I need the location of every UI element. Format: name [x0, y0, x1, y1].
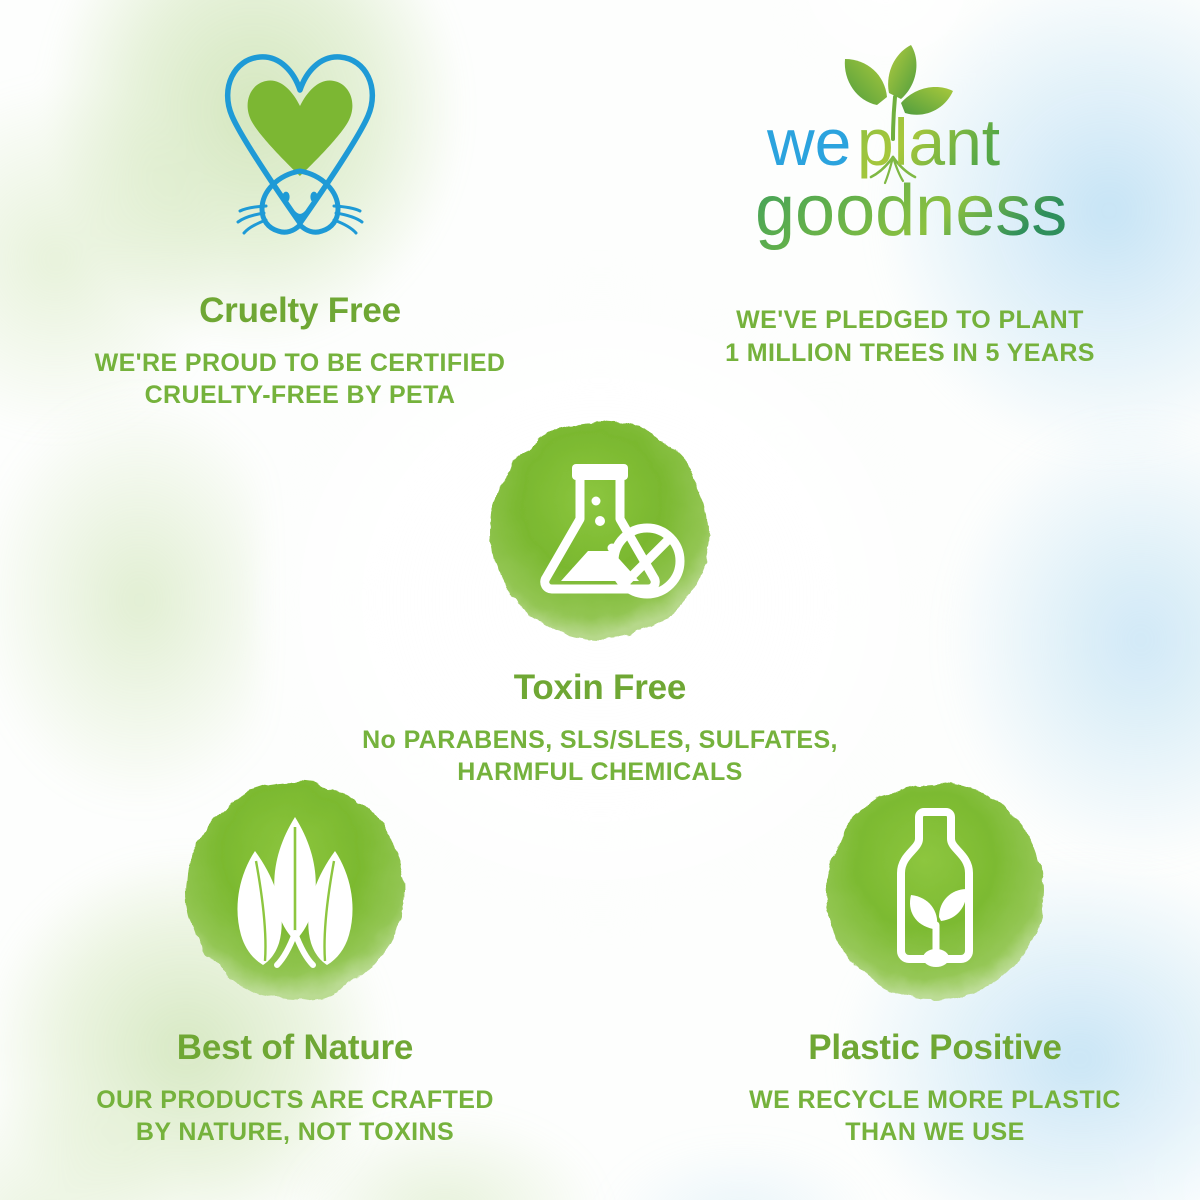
toxin-free-subtext-line-1: No PARABENS, SLS/SLES, SULFATES,: [362, 724, 838, 757]
best-of-nature-subtext-line-2: BY NATURE, NOT TOXINS: [96, 1116, 494, 1149]
we-plant-goodness-logo-slot: we plant goodness: [745, 40, 1075, 270]
feature-block-cruelty-free: Cruelty Free WE'RE PROUD TO BE CERTIFIED…: [40, 40, 560, 412]
toxin-free-heading: Toxin Free: [514, 669, 686, 708]
flask-prohibited-icon: [484, 415, 716, 647]
best-of-nature-heading: Best of Nature: [177, 1029, 413, 1068]
we-plant-goodness-logo: we plant goodness: [745, 45, 1075, 265]
feature-block-plastic-positive: Plastic Positive WE RECYCLE MORE PLASTIC…: [675, 775, 1195, 1149]
toxin-free-badge: [484, 415, 716, 647]
cruelty-free-subtext-line-1: WE'RE PROUD TO BE CERTIFIED: [95, 347, 506, 380]
cruelty-free-subtext-line-2: CRUELTY-FREE BY PETA: [95, 379, 506, 412]
bottle-sprout-icon: [819, 775, 1051, 1007]
plastic-positive-subtext: WE RECYCLE MORE PLASTIC THAN WE USE: [749, 1084, 1121, 1149]
three-leaves-icon: [179, 775, 411, 1007]
logo-word-goodness: goodness: [755, 171, 1067, 251]
plastic-positive-badge: [819, 775, 1051, 1007]
we-plant-goodness-subtext-line-1: WE'VE PLEDGED TO PLANT: [725, 304, 1095, 337]
cruelty-free-subtext: WE'RE PROUD TO BE CERTIFIED CRUELTY-FREE…: [95, 347, 506, 412]
logo-word-plant: plant: [857, 105, 1000, 179]
feature-block-best-of-nature: Best of Nature OUR PRODUCTS ARE CRAFTED …: [35, 775, 555, 1149]
feature-block-we-plant-goodness: we plant goodness WE'VE PLEDGED TO PLANT…: [650, 40, 1170, 369]
plastic-positive-subtext-line-2: THAN WE USE: [749, 1116, 1121, 1149]
plastic-positive-subtext-line-1: WE RECYCLE MORE PLASTIC: [749, 1084, 1121, 1117]
best-of-nature-badge: [179, 775, 411, 1007]
cruelty-free-logo-slot: [200, 40, 400, 270]
feature-block-toxin-free: Toxin Free No PARABENS, SLS/SLES, SULFAT…: [340, 415, 860, 789]
logo-word-we: we: [766, 105, 851, 179]
cruelty-free-heading: Cruelty Free: [199, 292, 401, 331]
we-plant-goodness-subtext-line-2: 1 MILLION TREES IN 5 YEARS: [725, 337, 1095, 370]
best-of-nature-subtext: OUR PRODUCTS ARE CRAFTED BY NATURE, NOT …: [96, 1084, 494, 1149]
we-plant-goodness-subtext: WE'VE PLEDGED TO PLANT 1 MILLION TREES I…: [725, 304, 1095, 369]
best-of-nature-subtext-line-1: OUR PRODUCTS ARE CRAFTED: [96, 1084, 494, 1117]
plastic-positive-heading: Plastic Positive: [808, 1029, 1062, 1068]
peta-cruelty-free-bunny-logo: [200, 48, 400, 263]
infographic-canvas: Cruelty Free WE'RE PROUD TO BE CERTIFIED…: [0, 0, 1200, 1200]
